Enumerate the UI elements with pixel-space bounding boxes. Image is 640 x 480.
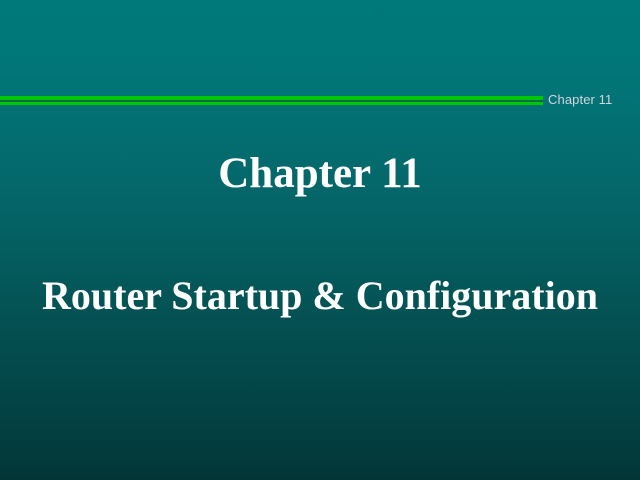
header-chapter-label: Chapter 11 — [548, 92, 612, 108]
slide-title: Chapter 11 — [0, 150, 640, 198]
header-rule-graphic — [0, 96, 543, 106]
presentation-slide: Chapter 11 Chapter 11 Router Startup & C… — [0, 0, 640, 480]
green-rule-bottom-bar — [0, 102, 543, 105]
slide-subtitle: Router Startup & Configuration — [0, 273, 640, 319]
